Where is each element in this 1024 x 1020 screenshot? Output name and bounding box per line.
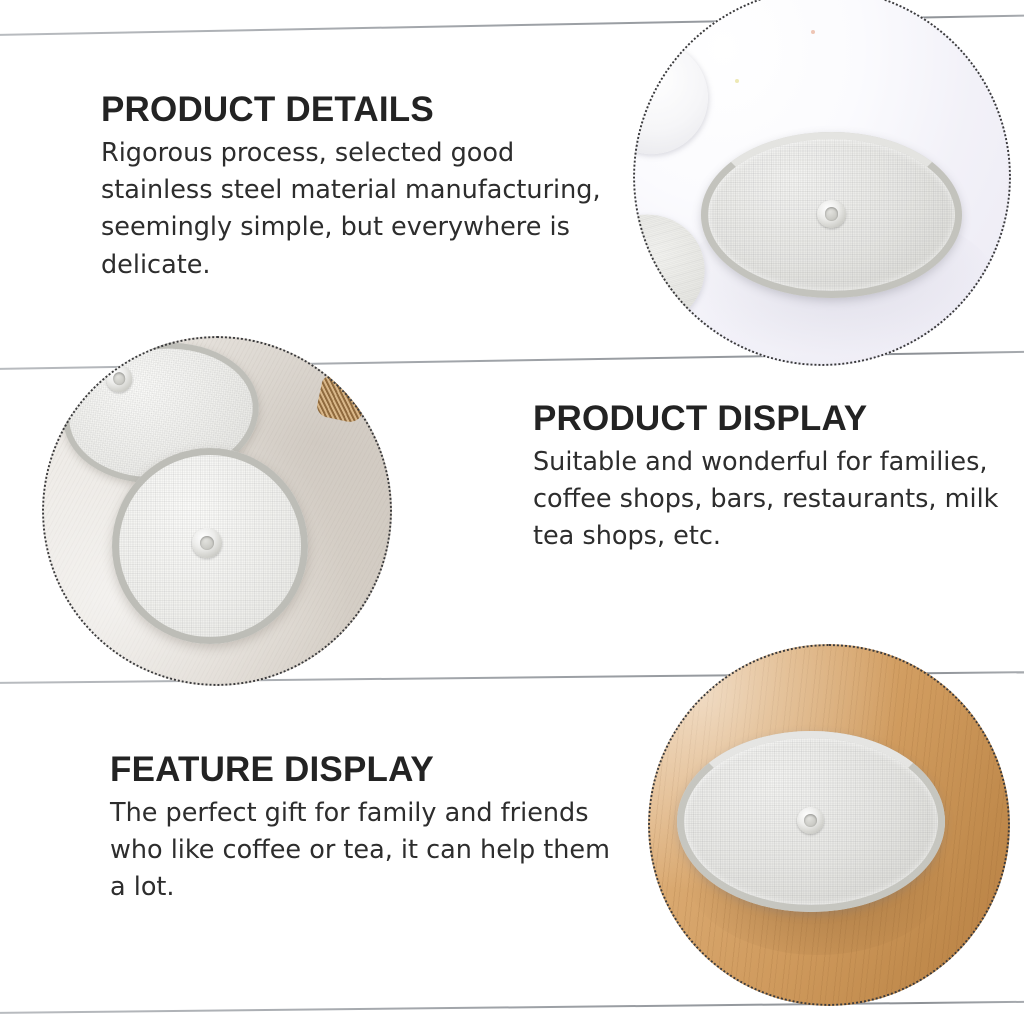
divider-line-bottom: [0, 999, 1024, 1014]
photo-3-scene: [648, 644, 1010, 1006]
surface-speck-orange: [811, 30, 815, 34]
center-grommet: [817, 200, 846, 228]
photo-two-filter-discs-on-stone: [42, 336, 392, 686]
product-details-body: Rigorous process, selected good stainles…: [101, 135, 621, 284]
partial-disc-top-left: [633, 21, 729, 174]
photo-2-scene: [42, 336, 392, 686]
photo-filter-disc-on-white-table: [633, 0, 1011, 366]
section-product-details: PRODUCT DETAILS Rigorous process, select…: [101, 92, 621, 284]
product-display-body: Suitable and wonderful for families, cof…: [533, 444, 1003, 556]
photo-1-scene: [633, 0, 1011, 366]
photo-filter-disc-on-wood: [648, 644, 1010, 1006]
feature-display-heading: FEATURE DISPLAY: [110, 752, 620, 787]
mesh-filter-disc: [701, 132, 962, 298]
product-display-heading: PRODUCT DISPLAY: [533, 401, 1003, 436]
mesh-filter-disc-lower: [112, 448, 308, 644]
infographic-page: PRODUCT DETAILS Rigorous process, select…: [0, 0, 1024, 1020]
section-product-display: PRODUCT DISPLAY Suitable and wonderful f…: [533, 401, 1003, 556]
product-details-heading: PRODUCT DETAILS: [101, 92, 621, 127]
mesh-filter-disc: [677, 731, 945, 912]
feature-display-body: The perfect gift for family and friends …: [110, 795, 620, 907]
center-grommet: [192, 528, 221, 557]
section-feature-display: FEATURE DISPLAY The perfect gift for fam…: [110, 752, 620, 907]
surface-speck-yellow: [735, 79, 739, 83]
wood-chip-detail: [315, 374, 368, 425]
